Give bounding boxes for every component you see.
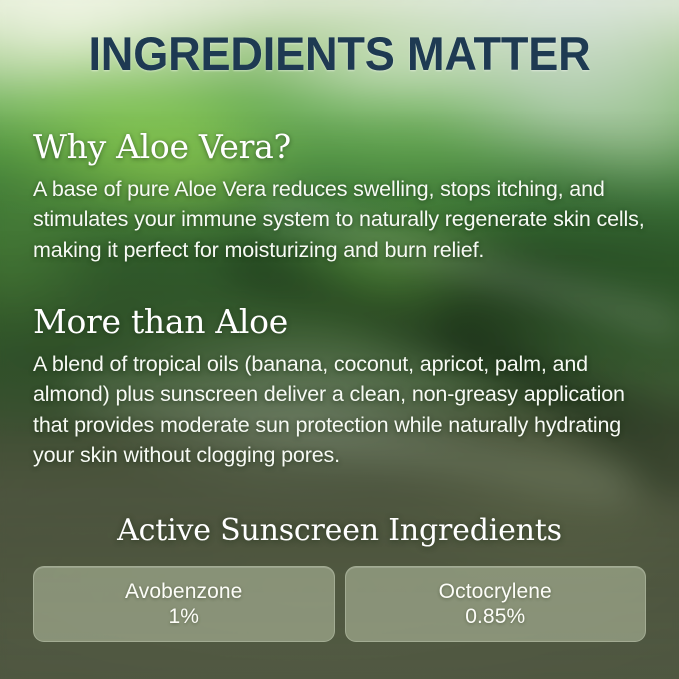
section-why-aloe-vera: Why Aloe Vera? A base of pure Aloe Vera … — [33, 128, 646, 265]
content-area: INGREDIENTS MATTER Why Aloe Vera? A base… — [0, 0, 679, 679]
active-ingredient-name: Avobenzone — [125, 580, 242, 604]
active-ingredient-percent: 1% — [168, 605, 199, 629]
section-heading-why-aloe-vera: Why Aloe Vera? — [33, 128, 646, 166]
section-heading-more-than-aloe: More than Aloe — [33, 303, 646, 341]
section-more-than-aloe: More than Aloe A blend of tropical oils … — [33, 303, 646, 471]
section-body-why-aloe-vera: A base of pure Aloe Vera reduces swellin… — [33, 174, 646, 266]
active-ingredients-row: Avobenzone 1% Octocrylene 0.85% — [33, 566, 646, 642]
active-ingredient-card-octocrylene: Octocrylene 0.85% — [345, 566, 647, 642]
active-ingredient-card-avobenzone: Avobenzone 1% — [33, 566, 335, 642]
page-title: INGREDIENTS MATTER — [14, 26, 666, 81]
active-ingredient-name: Octocrylene — [439, 580, 552, 604]
promo-graphic: INGREDIENTS MATTER Why Aloe Vera? A base… — [0, 0, 679, 679]
active-ingredients-heading: Active Sunscreen Ingredients — [0, 513, 679, 548]
active-ingredient-percent: 0.85% — [465, 605, 525, 629]
section-body-more-than-aloe: A blend of tropical oils (banana, coconu… — [33, 349, 646, 471]
